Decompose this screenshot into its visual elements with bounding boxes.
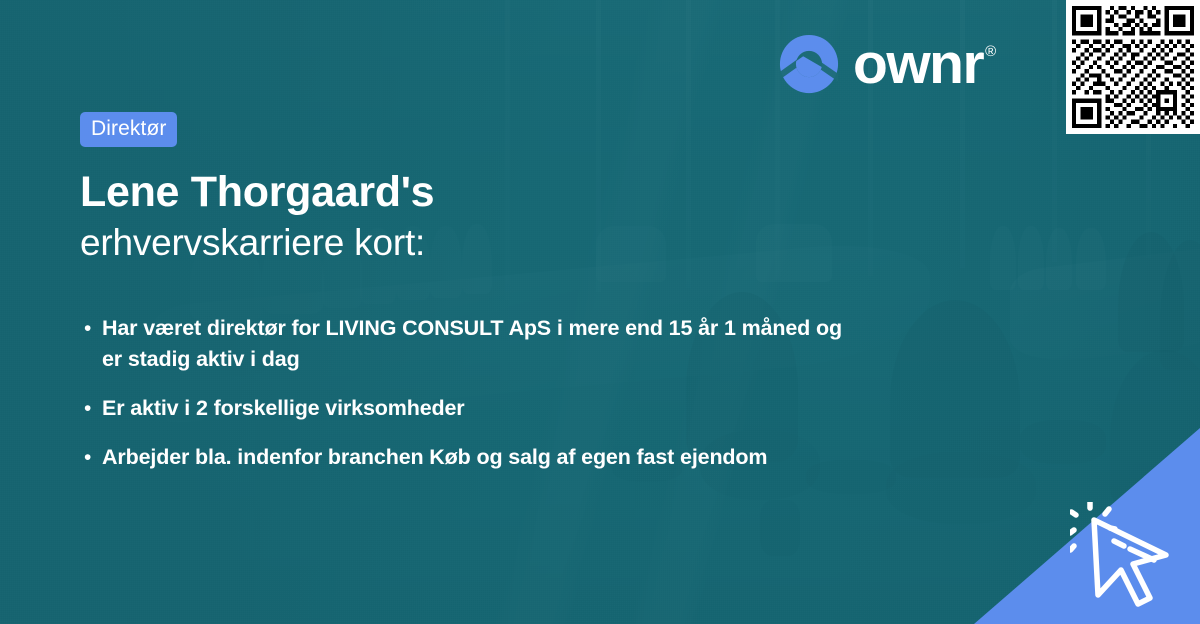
list-item-text: Arbejder bla. indenfor branchen Køb og s… bbox=[102, 442, 767, 473]
role-badge: Direktør bbox=[80, 112, 177, 147]
ownr-wordmark: ownr ® bbox=[853, 37, 996, 91]
bullet-icon: • bbox=[84, 442, 102, 473]
ownr-circular-swirl-logo bbox=[778, 33, 840, 95]
bullet-icon: • bbox=[84, 393, 102, 424]
qr-code-image bbox=[1072, 6, 1194, 128]
click-cursor-icon bbox=[1070, 502, 1190, 610]
list-item-text: Har været direktør for LIVING CONSULT Ap… bbox=[102, 313, 847, 375]
photo-grain bbox=[0, 0, 1200, 624]
registered-trademark-icon: ® bbox=[985, 43, 996, 60]
qr-code[interactable] bbox=[1066, 0, 1200, 134]
career-facts-list: • Har været direktør for LIVING CONSULT … bbox=[84, 313, 894, 491]
business-career-card: ownr ® bbox=[0, 0, 1200, 624]
ownr-logo[interactable]: ownr ® bbox=[778, 33, 996, 95]
list-item: • Arbejder bla. indenfor branchen Køb og… bbox=[84, 442, 894, 473]
list-item: • Er aktiv i 2 forskellige virksomheder bbox=[84, 393, 894, 424]
bullet-icon: • bbox=[84, 313, 102, 344]
list-item-text: Er aktiv i 2 forskellige virksomheder bbox=[102, 393, 465, 424]
headline-block: Direktør Lene Thorgaard's erhvervskarrie… bbox=[80, 112, 910, 265]
page-subtitle: erhvervskarriere kort: bbox=[80, 221, 910, 265]
list-item: • Har været direktør for LIVING CONSULT … bbox=[84, 313, 894, 375]
background-office-photo bbox=[0, 0, 1200, 624]
page-title: Lene Thorgaard's bbox=[80, 168, 910, 217]
logo-text: ownr bbox=[853, 37, 983, 91]
